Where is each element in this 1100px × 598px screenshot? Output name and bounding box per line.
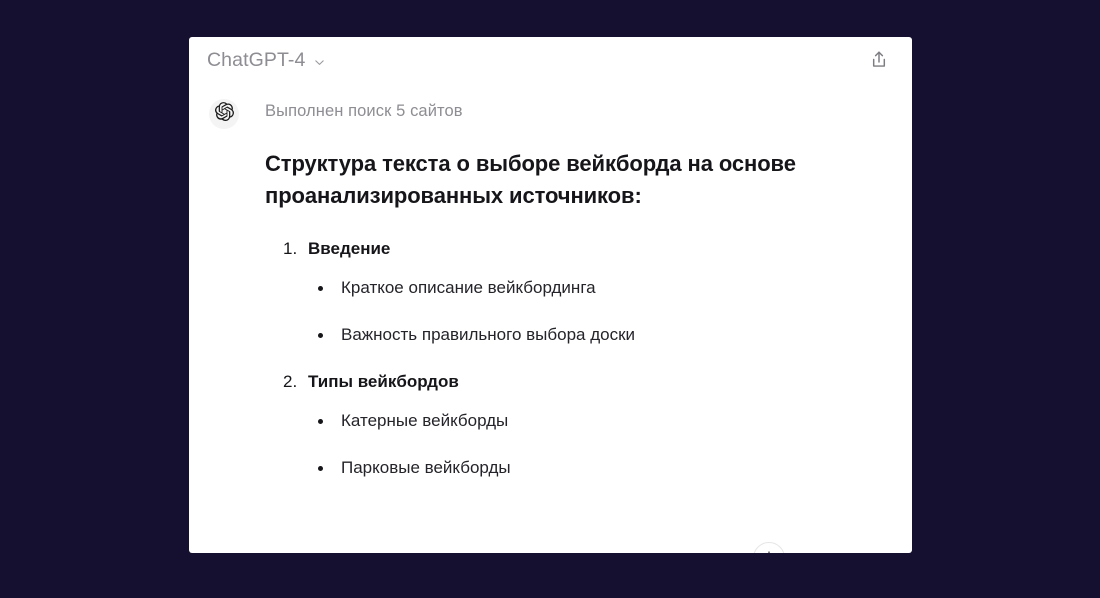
outline-list: Введение Краткое описание вейкбординга В… xyxy=(265,236,888,482)
chevron-down-icon xyxy=(313,56,326,69)
list-item: Типы вейкбордов Катерные вейкборды Парко… xyxy=(265,369,888,482)
share-upload-icon xyxy=(868,49,890,74)
message-area: Выполнен поиск 5 сайтов Структура текста… xyxy=(189,85,912,502)
assistant-message: Выполнен поиск 5 сайтов Структура текста… xyxy=(203,97,888,502)
message-content: Выполнен поиск 5 сайтов Структура текста… xyxy=(239,97,888,502)
openai-logo-icon xyxy=(215,102,234,126)
list-item: Краткое описание вейкбординга xyxy=(308,275,888,301)
list-item: Введение Краткое описание вейкбординга В… xyxy=(265,236,888,349)
list-item: Парковые вейкборды xyxy=(308,455,888,481)
outline-item-title: Введение xyxy=(308,236,888,262)
card-header: ChatGPT-4 xyxy=(189,37,912,85)
list-item: Важность правильного выбора доски xyxy=(308,322,888,348)
scroll-to-bottom-button[interactable] xyxy=(753,542,785,553)
list-item: Катерные вейкборды xyxy=(308,408,888,434)
avatar xyxy=(209,99,239,129)
outline-sub-list: Катерные вейкборды Парковые вейкборды xyxy=(308,408,888,482)
arrow-down-icon xyxy=(761,549,777,554)
answer-heading: Структура текста о выборе вейкборда на о… xyxy=(265,148,850,212)
search-status-text: Выполнен поиск 5 сайтов xyxy=(265,102,888,122)
model-selector-button[interactable]: ChatGPT-4 xyxy=(205,49,328,73)
outline-sub-list: Краткое описание вейкбординга Важность п… xyxy=(308,275,888,349)
outline-item-title: Типы вейкбордов xyxy=(308,369,888,395)
chat-card: ChatGPT-4 xyxy=(189,37,912,553)
model-name-label: ChatGPT-4 xyxy=(207,51,305,71)
share-button[interactable] xyxy=(864,46,894,76)
